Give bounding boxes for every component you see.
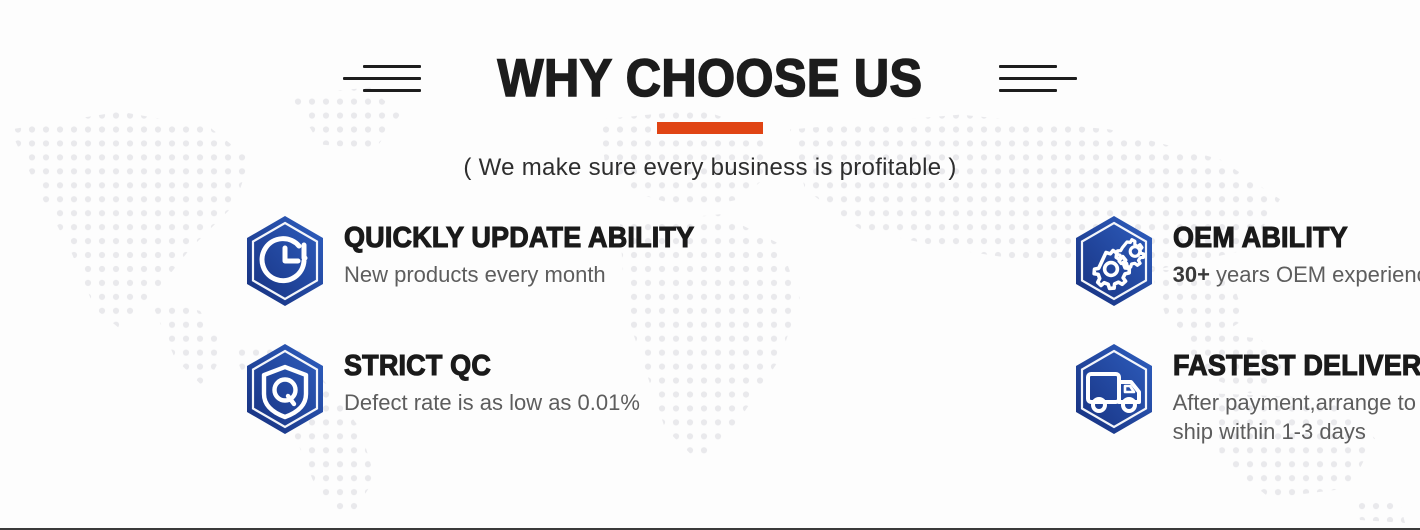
feature-subtext-line1: years OEM experience bbox=[1210, 262, 1420, 287]
delivery-truck-icon bbox=[1073, 342, 1155, 436]
feature-heading: OEM ABILITY bbox=[1173, 223, 1420, 253]
title-row: WHY CHOOSE US bbox=[0, 52, 1420, 105]
deco-line bbox=[999, 65, 1057, 68]
feature-subtext-line1: New products every month bbox=[344, 262, 606, 287]
feature-heading: QUICKLY UPDATE ABILITY bbox=[344, 223, 694, 253]
page-title: WHY CHOOSE US bbox=[497, 52, 922, 105]
feature-subtext: New products every month bbox=[344, 261, 721, 289]
feature-subtext: 30+ years OEM experience bbox=[1173, 261, 1420, 289]
feature-subtext-line2: ship within 1-3 days bbox=[1173, 418, 1420, 446]
gears-icon bbox=[1073, 214, 1155, 308]
feature-grid: QUICKLY UPDATE ABILITY New products ever… bbox=[0, 214, 1420, 446]
deco-line bbox=[363, 89, 421, 92]
deco-line bbox=[363, 65, 421, 68]
deco-line bbox=[999, 89, 1057, 92]
clock-refresh-icon bbox=[244, 214, 326, 308]
feature-subtext-line1: Defect rate is as low as 0.01% bbox=[344, 390, 640, 415]
feature-text: QUICKLY UPDATE ABILITY New products ever… bbox=[344, 214, 721, 290]
why-choose-us-banner: WHY CHOOSE US (We make sure every busine… bbox=[0, 0, 1420, 530]
deco-line bbox=[999, 77, 1077, 80]
shield-q-icon bbox=[244, 342, 326, 436]
feature-subtext: After payment,arrange to ship within 1-3… bbox=[1173, 389, 1420, 445]
deco-line bbox=[343, 77, 421, 80]
subtitle-close-paren: ) bbox=[941, 154, 963, 181]
feature-item-quickly-update: QUICKLY UPDATE ABILITY New products ever… bbox=[244, 214, 721, 308]
page-subtitle: (We make sure every business is profitab… bbox=[0, 154, 1420, 182]
decorative-lines-right bbox=[999, 65, 1077, 92]
feature-item-fastest-delivery: FASTEST DELIVERY ABILITY After payment,a… bbox=[721, 342, 1420, 446]
subtitle-open-paren: ( bbox=[456, 154, 478, 181]
banner-header: WHY CHOOSE US (We make sure every busine… bbox=[0, 0, 1420, 182]
subtitle-text: We make sure every business is profitabl… bbox=[479, 154, 942, 181]
feature-subtext: Defect rate is as low as 0.01% bbox=[344, 389, 640, 417]
feature-text: OEM ABILITY 30+ years OEM experience bbox=[1173, 214, 1420, 290]
feature-item-oem-ability: OEM ABILITY 30+ years OEM experience bbox=[721, 214, 1420, 308]
feature-heading: STRICT QC bbox=[344, 351, 619, 381]
feature-item-strict-qc: STRICT QC Defect rate is as low as 0.01% bbox=[244, 342, 721, 446]
feature-subtext-line1: After payment,arrange to bbox=[1173, 390, 1416, 415]
title-accent-underline bbox=[657, 122, 763, 134]
feature-text: STRICT QC Defect rate is as low as 0.01% bbox=[344, 342, 640, 418]
feature-subtext-highlight: 30+ bbox=[1173, 262, 1210, 287]
feature-text: FASTEST DELIVERY ABILITY After payment,a… bbox=[1173, 342, 1420, 446]
feature-heading: FASTEST DELIVERY ABILITY bbox=[1173, 351, 1420, 381]
decorative-lines-left bbox=[343, 65, 421, 92]
